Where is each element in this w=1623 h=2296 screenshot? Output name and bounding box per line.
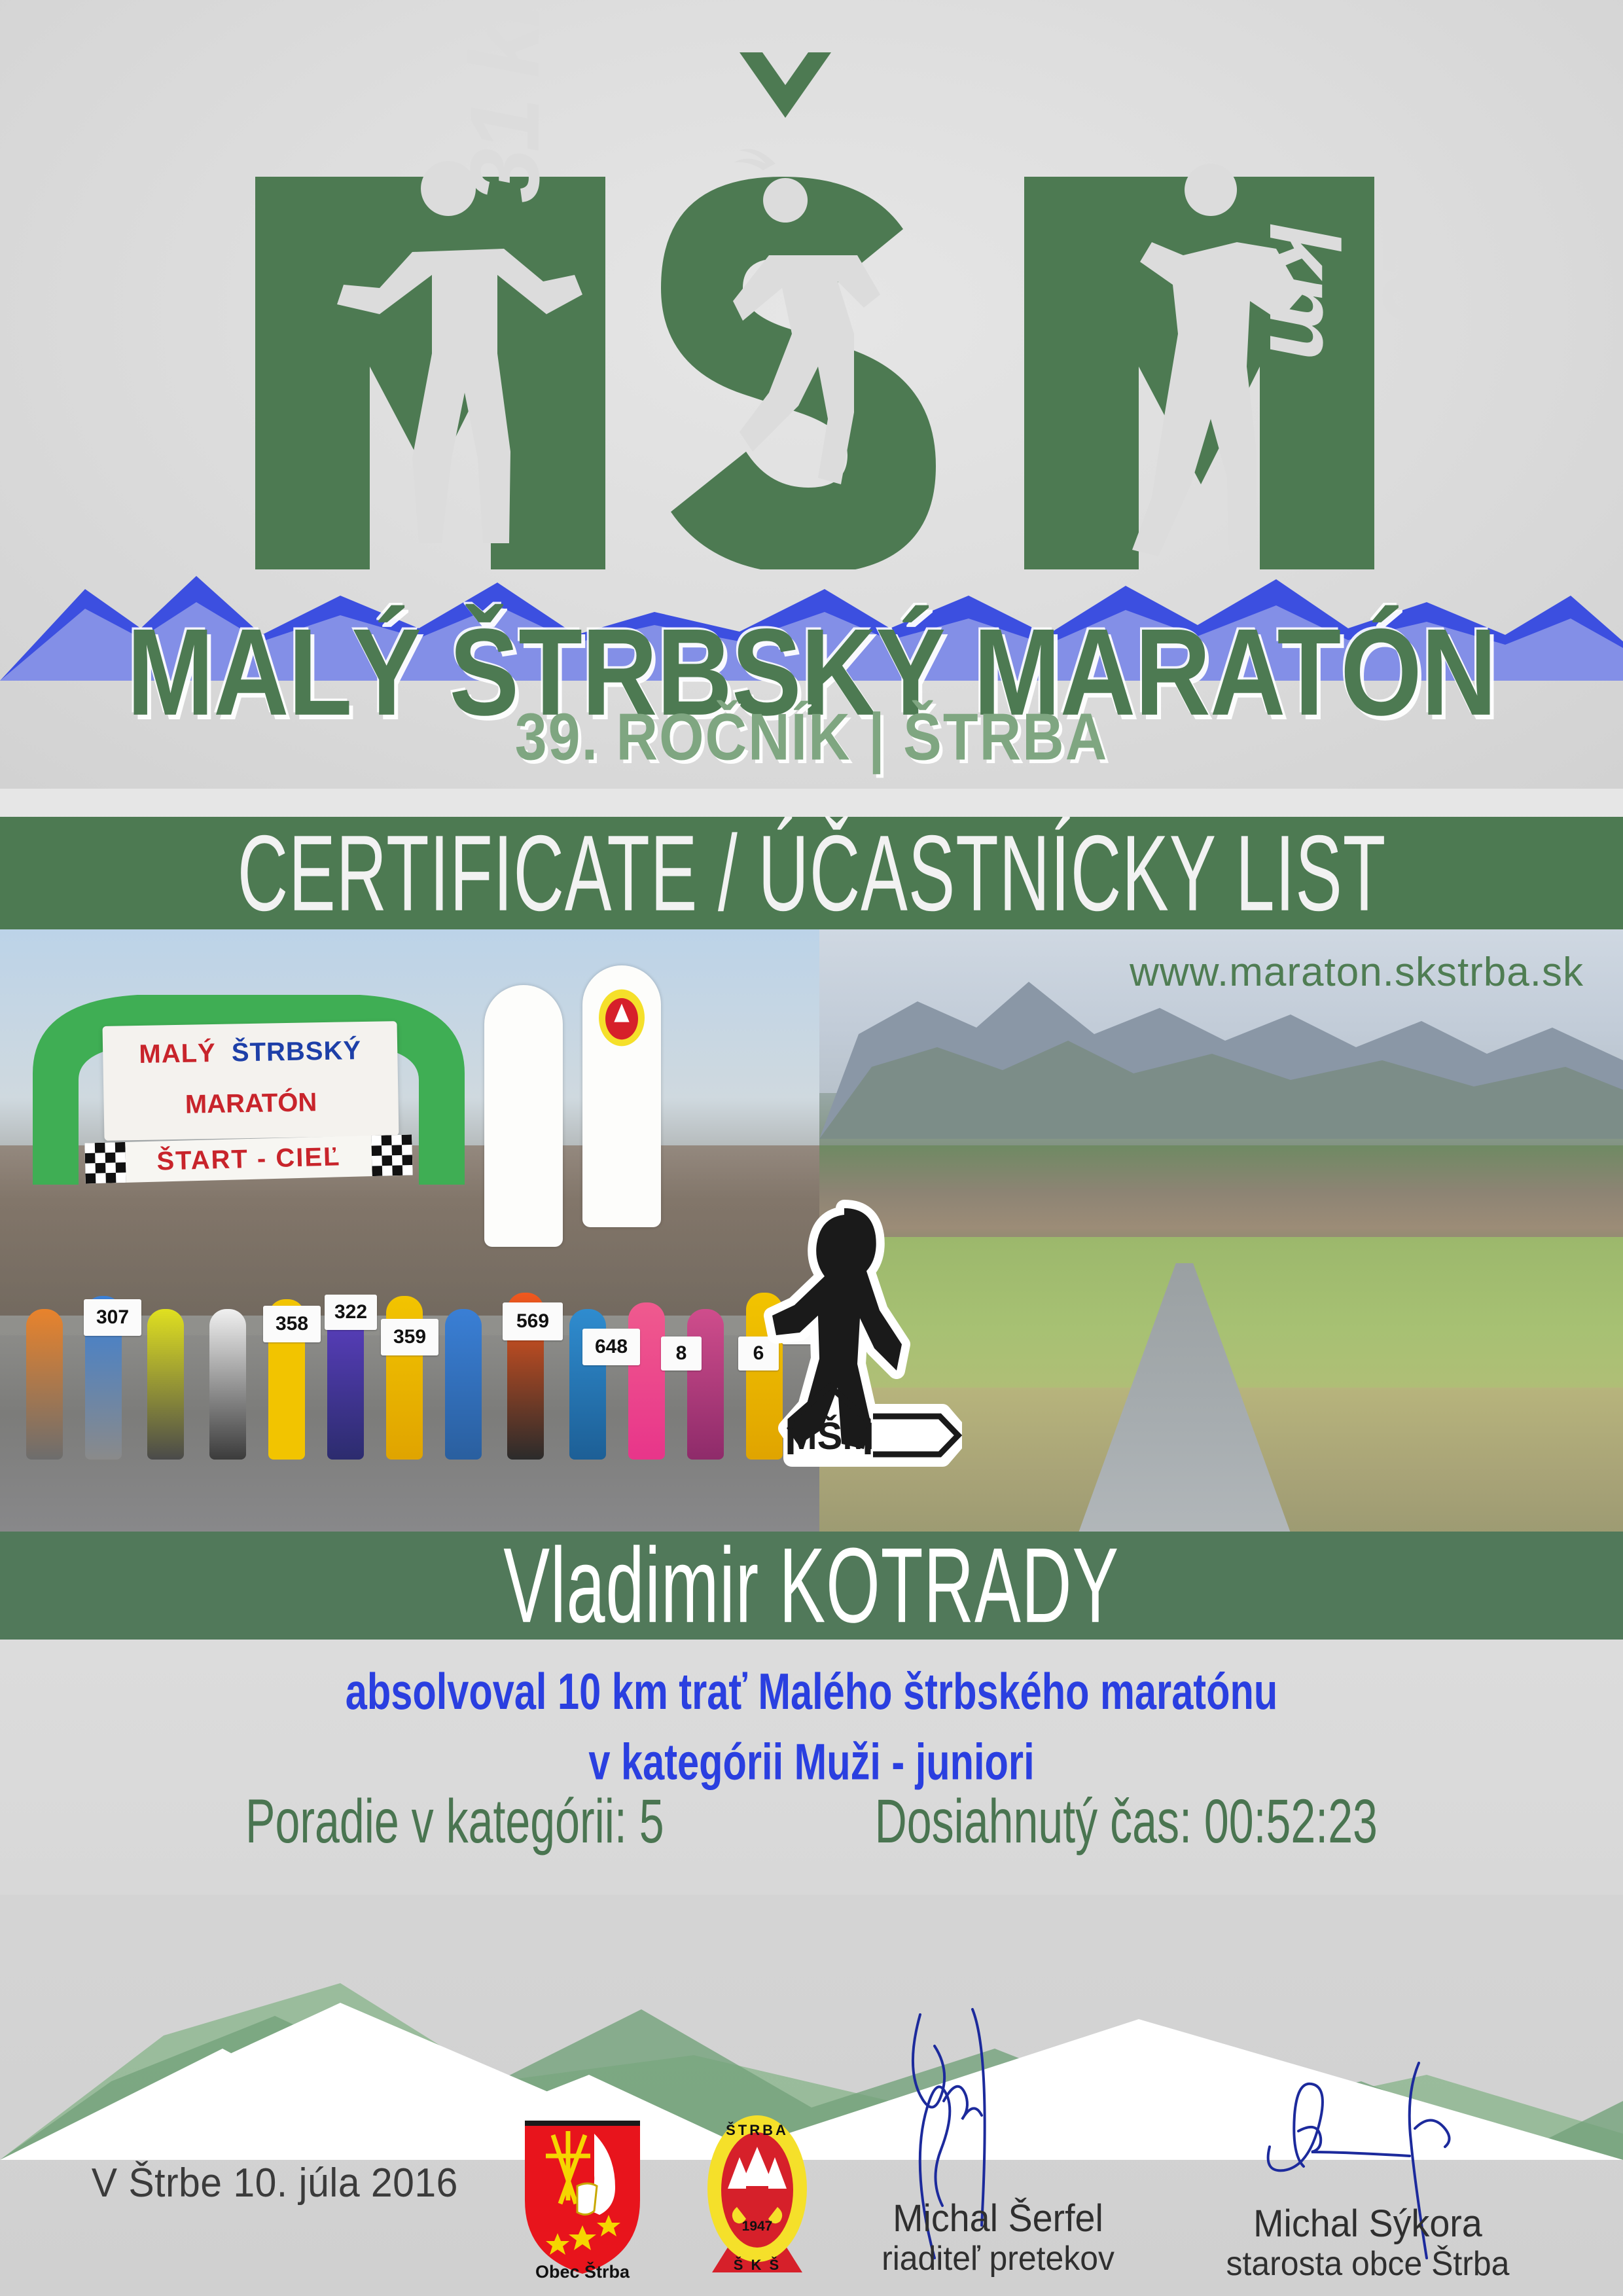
start-finish-text: ŠTART - CIEĽ <box>156 1142 341 1176</box>
bib-number: 359 <box>381 1319 438 1355</box>
results-row: Poradie v kategórii: 5 Dosiahnutý čas: 0… <box>65 1785 1558 1857</box>
bib-number: 358 <box>263 1306 321 1342</box>
sks-logo-small-icon <box>589 985 654 1050</box>
issue-date: V Štrbe 10. júla 2016 <box>92 2160 458 2206</box>
rank-result: Poradie v kategórii: 5 <box>245 1785 664 1857</box>
arch-title-line2: MARATÓN <box>103 1086 399 1121</box>
msm-overlay-label: MŠM <box>785 1415 874 1458</box>
signer-name-left: Michal Šerfel <box>850 2199 1145 2239</box>
details-section: absolvoval 10 km trať Malého štrbského m… <box>0 1640 1623 1895</box>
achievement-description: absolvoval 10 km trať Malého štrbského m… <box>57 1657 1566 1797</box>
certificate-title: CERTIFICATE / ÚČASTNÍCKY LIST <box>237 812 1386 935</box>
distance-right-label: 10 km <box>1247 223 1474 357</box>
participant-name-band: Vladimir KOTRADY <box>0 1532 1623 1640</box>
inflatable-start-arch: MALÝ ŠTRBSKÝ MARATÓN ŠTART - CIEĽ <box>20 975 478 1185</box>
sks-year-label: 1947 <box>742 2219 773 2234</box>
crest-caption: Obec Štrba <box>535 2261 630 2279</box>
msm-letters-icon <box>216 26 1414 569</box>
event-subtitle: 39. ROČNÍK | ŠTRBA <box>0 698 1623 775</box>
sks-top-label: ŠTRBA <box>726 2122 789 2138</box>
signer-role-left: riaditeľ pretekov <box>850 2239 1145 2278</box>
logo-area: 31 km 10 km MALÝ ŠTRBSKÝ MARATÓN 39. ROČ… <box>0 0 1623 789</box>
arch-title-line1: MALÝ ŠTRBSKÝ <box>103 1035 398 1070</box>
time-label: Dosiahnutý čas: <box>875 1786 1192 1856</box>
sks-strba-logo-icon: ŠTRBA 1947 Š K Š <box>694 2109 821 2280</box>
arch-banner: MALÝ ŠTRBSKÝ MARATÓN <box>103 1021 399 1141</box>
bib-number: 322 <box>325 1295 377 1330</box>
participant-name: Vladimir KOTRADY <box>504 1524 1120 1647</box>
certificate-page: 31 km 10 km MALÝ ŠTRBSKÝ MARATÓN 39. ROČ… <box>0 0 1623 2296</box>
time-result: Dosiahnutý čas: 00:52:23 <box>875 1785 1378 1857</box>
footer: V Štrbe 10. júla 2016 Obec Štrba <box>0 2055 1623 2296</box>
runner-crowd: 307 358 322 359 569 648 8 6 360 <box>0 1185 819 1460</box>
distance-left-label: 31 km <box>448 0 562 203</box>
sks-bottom-label: Š K Š <box>734 2257 781 2273</box>
rank-value: 5 <box>639 1786 664 1856</box>
arch-word-maly: MALÝ <box>139 1039 216 1069</box>
time-value: 00:52:23 <box>1204 1786 1378 1856</box>
signature-block-left: Michal Šerfel riaditeľ pretekov <box>844 2199 1152 2278</box>
msm-runner-cutout-icon: MŠM <box>753 1190 962 1471</box>
signature-block-right: Michal Sýkora starosta obce Štrba <box>1211 2204 1525 2284</box>
website-url[interactable]: www.maraton.skstrba.sk <box>1130 949 1584 996</box>
race-start-photo: MALÝ ŠTRBSKÝ MARATÓN ŠTART - CIEĽ <box>0 929 819 1532</box>
bib-number: 8 <box>661 1336 702 1371</box>
signer-name-right: Michal Sýkora <box>1217 2204 1519 2244</box>
signer-role-right: starosta obce Štrba <box>1217 2244 1519 2284</box>
certificate-title-band: CERTIFICATE / ÚČASTNÍCKY LIST <box>0 817 1623 929</box>
rank-label: Poradie v kategórii: <box>245 1786 627 1856</box>
bib-number: 569 <box>503 1302 563 1340</box>
arch-word-strbsky: ŠTRBSKÝ <box>232 1036 362 1067</box>
start-finish-banner: ŠTART - CIEĽ <box>84 1134 412 1183</box>
bib-number: 648 <box>582 1329 640 1365</box>
msm-logo: 31 km 10 km <box>216 26 1414 563</box>
bib-number: 307 <box>84 1299 141 1336</box>
obec-strba-crest-icon: Obec Štrba <box>517 2115 648 2279</box>
description-line-1: absolvoval 10 km trať Malého štrbského m… <box>57 1657 1566 1727</box>
